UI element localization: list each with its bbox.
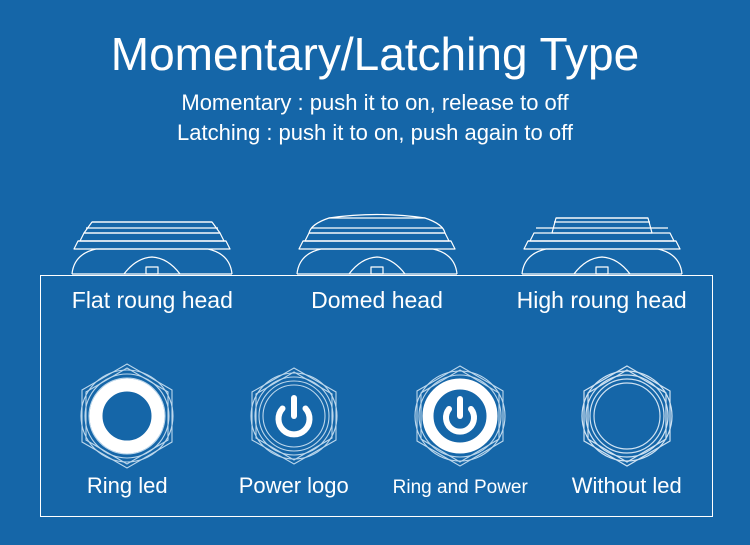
header: Momentary/Latching Type Momentary : push…: [0, 0, 750, 148]
head-labels-row: Flat roung head Domed head High roung he…: [40, 287, 714, 314]
led-labels-row: Ring led Power logo Ring and Power Witho…: [44, 473, 710, 499]
ring-led-icon: [71, 360, 183, 472]
page-title: Momentary/Latching Type: [0, 0, 750, 78]
without-led-icon: [573, 362, 681, 470]
latching-description: Latching : push it to on, push again to …: [0, 118, 750, 148]
momentary-description: Momentary : push it to on, release to of…: [0, 88, 750, 118]
led-label-power-logo: Power logo: [211, 473, 378, 499]
ring-and-power-icon: [406, 362, 514, 470]
led-label-ring: Ring led: [44, 473, 211, 499]
led-cell-ring: [44, 358, 211, 473]
product-spec-banner: Momentary/Latching Type Momentary : push…: [0, 0, 750, 545]
head-label-flat-round: Flat roung head: [40, 287, 265, 314]
led-cell-power-logo: [211, 358, 378, 473]
high-round-head-icon: [512, 214, 692, 276]
led-illustrations-row: [44, 358, 710, 473]
head-cell-flat-round: [40, 214, 265, 276]
head-cell-domed: [265, 214, 490, 276]
power-logo-icon: [242, 364, 346, 468]
head-label-high-round: High roung head: [489, 287, 714, 314]
head-cell-high-round: [489, 214, 714, 276]
domed-head-icon: [287, 214, 467, 276]
led-cell-ring-and-power: [377, 358, 544, 473]
head-label-domed: Domed head: [265, 287, 490, 314]
led-label-without-led: Without led: [544, 473, 711, 499]
led-cell-without-led: [544, 358, 711, 473]
flat-round-head-icon: [62, 214, 242, 276]
led-label-ring-and-power: Ring and Power: [377, 477, 544, 499]
subtitle-block: Momentary : push it to on, release to of…: [0, 88, 750, 147]
head-illustrations-row: [40, 214, 714, 276]
